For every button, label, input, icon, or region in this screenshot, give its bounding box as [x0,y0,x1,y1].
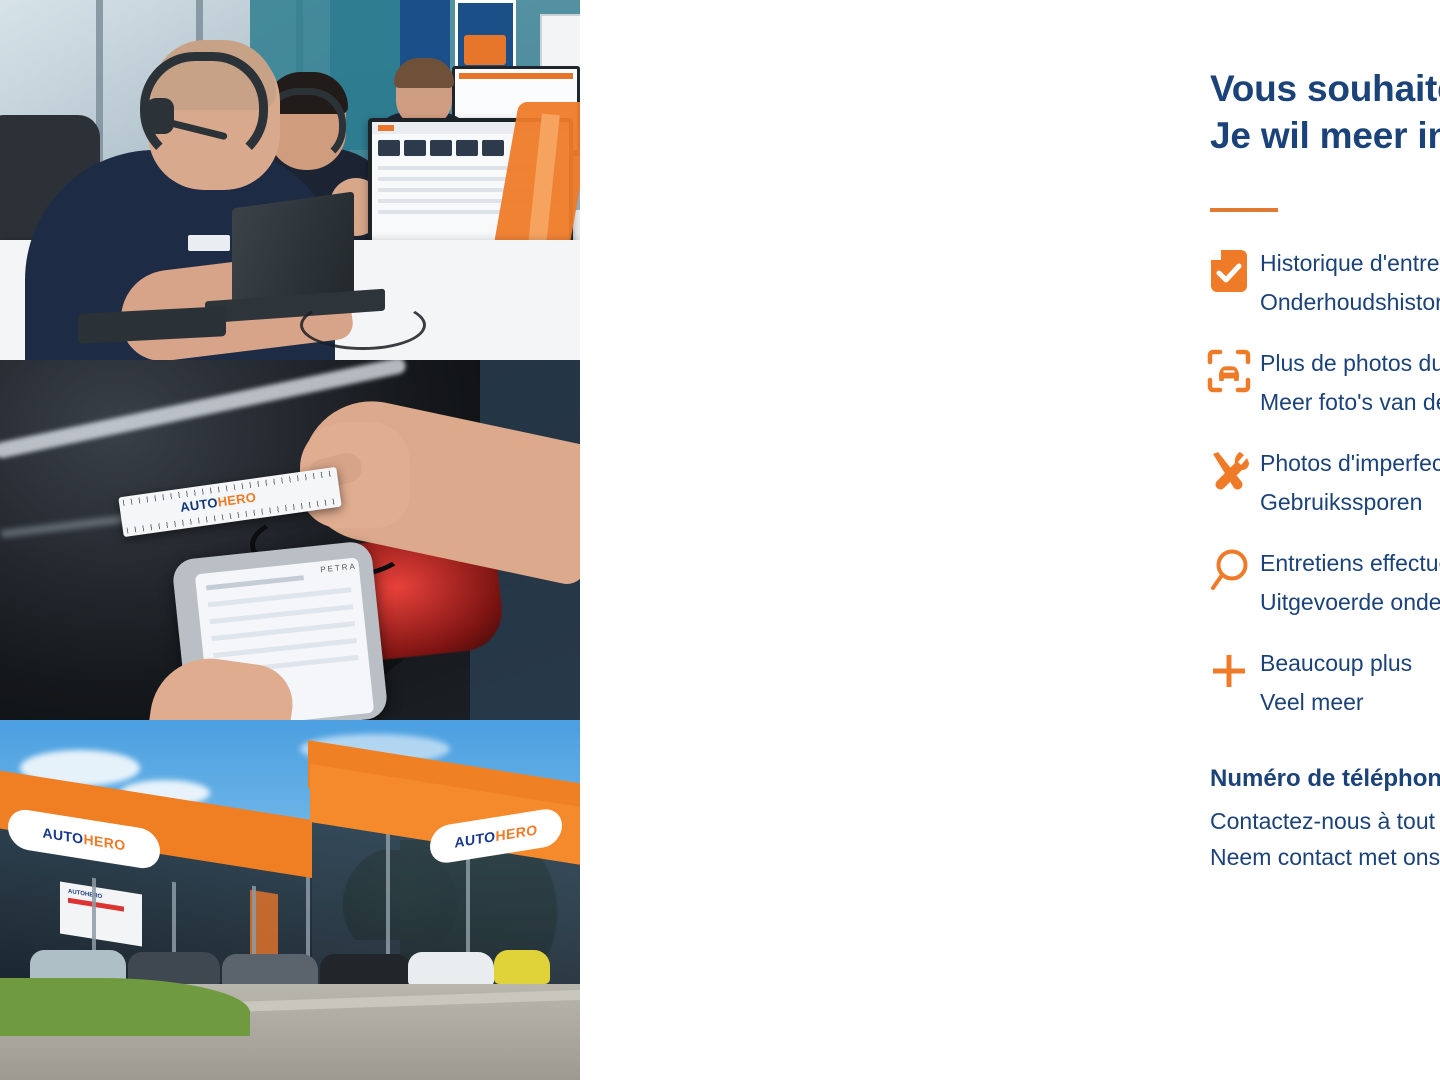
list-item-label-fr: Beaucoup plus [1260,644,1412,683]
list-item-label-nl: Uitgevoerde onderhoudswerkzaamheden [1260,583,1440,622]
sign-hero-text: HERO [495,821,537,844]
document-check-icon [1198,240,1260,302]
showroom-car [494,950,550,984]
list-item: Entretiens effectués Uitgevoerde onderho… [1198,540,1440,616]
list-item-label-fr: Entretiens effectués [1260,544,1440,583]
photo-column: AUTOHERO PETRA AUTOHERO [0,0,580,1080]
sign-auto-text: AUTO [42,824,83,846]
list-item-labels: Plus de photos du véhicule Meer foto's v… [1260,340,1440,422]
list-item: Beaucoup plus Veel meer [1198,640,1440,716]
list-item-labels: Beaucoup plus Veel meer [1260,640,1412,722]
call-center-agents-photo [0,0,580,360]
list-item: Photos d'imperfections Gebruikssporen [1198,440,1440,516]
list-item-label-nl: Veel meer [1260,683,1412,722]
desk-cable [300,300,426,350]
name-badge [188,235,230,251]
list-item: Plus de photos du véhicule Meer foto's v… [1198,340,1440,416]
phone-number-line[interactable]: Numéro de téléphone / Telefoonnummer: +3… [1210,765,1440,793]
info-list: Historique d'entretien Onderhoudshistori… [1198,240,1440,740]
showroom-car [222,954,318,988]
list-item-label-fr: Plus de photos du véhicule [1260,344,1440,383]
page-title-line-fr: Vous souhaitez plus d'informations sur / [1210,66,1440,113]
sign-auto-text: AUTO [454,828,495,850]
car-scan-icon [1198,340,1260,402]
ruler-logo-auto: AUTO [179,495,219,515]
cta-text-fr: Contactez-nous à tout moment pour plus d… [1210,804,1440,840]
autohero-showroom-photo: AUTOHERO AUTOHERO AUTOHERO [0,720,580,1080]
page-title-line-nl: Je wil meer informatie over: [1210,113,1440,160]
magnifier-icon [1198,540,1260,602]
title-divider [1210,208,1278,212]
headset-earcup [146,98,174,134]
tools-icon [1198,440,1260,502]
list-item-labels: Historique d'entretien Onderhoudshistori… [1260,240,1440,322]
list-item-labels: Photos d'imperfections Gebruikssporen [1260,440,1440,522]
list-item-label-fr: Photos d'imperfections [1260,444,1440,483]
sign-hero-text: HERO [83,831,125,854]
showroom-car [408,952,494,986]
cta-text-nl: Neem contact met ons op voor meer inform… [1210,840,1440,876]
content-panel: Vous souhaitez plus d'informations sur /… [580,0,1440,1080]
poster-root: AUTOHERO PETRA AUTOHERO [0,0,1440,1080]
wall-poster [540,14,580,68]
list-item: Historique d'entretien Onderhoudshistori… [1198,240,1440,316]
list-item-labels: Entretiens effectués Uitgevoerde onderho… [1260,540,1440,622]
list-item-label-nl: Onderhoudshistorie [1260,283,1440,322]
contact-block: Numéro de téléphone / Telefoonnummer: +3… [1210,765,1440,875]
showroom-car [320,954,412,988]
page-title: Vous souhaitez plus d'informations sur /… [1210,66,1440,159]
list-item-label-nl: Gebruikssporen [1260,483,1440,522]
plus-icon [1198,640,1260,702]
list-item-label-nl: Meer foto's van de auto [1260,383,1440,422]
ruler-logo-hero: HERO [217,489,257,509]
list-item-label-fr: Historique d'entretien [1260,244,1440,283]
vehicle-inspection-photo: AUTOHERO PETRA [0,360,580,720]
